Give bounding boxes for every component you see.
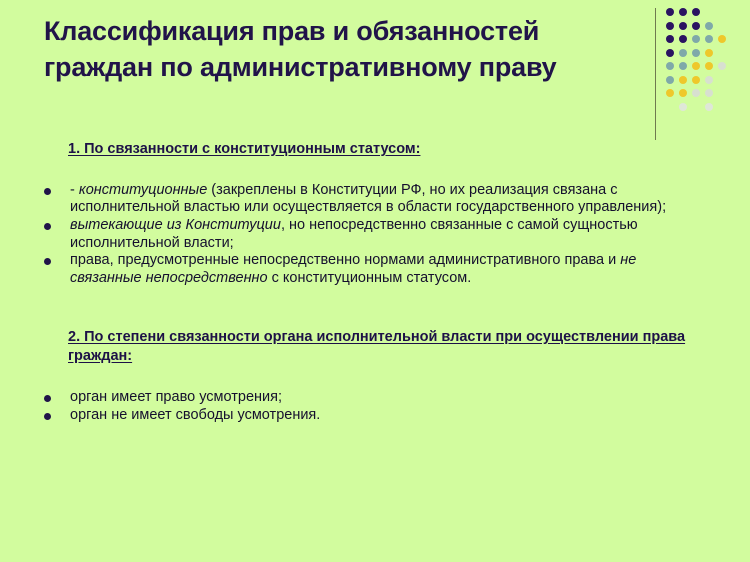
decorative-dot bbox=[679, 22, 687, 30]
spacer bbox=[0, 160, 750, 182]
title-block: Классификация прав и обязанностей гражда… bbox=[44, 14, 644, 85]
list-item: орган не имеет свободы усмотрения. bbox=[0, 407, 750, 425]
spacer bbox=[0, 288, 750, 328]
bullet-icon bbox=[44, 188, 51, 195]
decorative-dot bbox=[679, 76, 687, 84]
decorative-dot bbox=[705, 62, 713, 70]
list-item: вытекающие из Конституции, но непосредст… bbox=[0, 217, 750, 252]
list-item-text: вытекающие из Конституции, но непосредст… bbox=[70, 217, 638, 251]
decorative-dot bbox=[692, 49, 700, 57]
decorative-dot bbox=[692, 22, 700, 30]
decorative-dot bbox=[692, 62, 700, 70]
plain-text: - bbox=[70, 182, 79, 198]
plain-text: орган имеет право усмотрения; bbox=[70, 389, 282, 405]
slide-body: 1. По связанности с конституционным стат… bbox=[0, 140, 750, 424]
bullet-icon bbox=[44, 258, 51, 265]
decorative-dot bbox=[692, 76, 700, 84]
bullet-icon bbox=[44, 413, 51, 420]
decorative-dot bbox=[705, 89, 713, 97]
list-item-text: права, предусмотренные непосредственно н… bbox=[70, 252, 636, 286]
list-item-text: - конституционные (закреплены в Конститу… bbox=[70, 182, 666, 216]
list-item: права, предусмотренные непосредственно н… bbox=[0, 252, 750, 287]
decorative-dot bbox=[666, 62, 674, 70]
decorative-dot bbox=[679, 62, 687, 70]
emphasis-text: вытекающие из Конституции bbox=[70, 217, 281, 233]
section-2: 2. По степени связанности органа исполни… bbox=[0, 328, 750, 425]
bullet-list-1: - конституционные (закреплены в Конститу… bbox=[0, 182, 750, 288]
decorative-dot bbox=[666, 35, 674, 43]
section-heading-2: 2. По степени связанности органа исполни… bbox=[0, 328, 750, 367]
list-item: - конституционные (закреплены в Конститу… bbox=[0, 182, 750, 217]
emphasis-text: конституционные bbox=[79, 182, 207, 198]
bullet-icon bbox=[44, 395, 51, 402]
section-1: 1. По связанности с конституционным стат… bbox=[0, 140, 750, 288]
section-heading-1: 1. По связанности с конституционным стат… bbox=[0, 140, 750, 160]
decorative-dot bbox=[692, 89, 700, 97]
decorative-dot bbox=[705, 35, 713, 43]
decorative-dot bbox=[705, 49, 713, 57]
decorative-dot bbox=[666, 8, 674, 16]
decorative-dot bbox=[666, 76, 674, 84]
decorative-dot bbox=[705, 76, 713, 84]
slide-canvas: Классификация прав и обязанностей гражда… bbox=[0, 0, 750, 562]
bullet-list-2: орган имеет право усмотрения;орган не им… bbox=[0, 389, 750, 424]
decorative-dot bbox=[718, 62, 726, 70]
decorative-dot bbox=[718, 35, 726, 43]
list-item: орган имеет право усмотрения; bbox=[0, 389, 750, 407]
spacer bbox=[0, 367, 750, 389]
decorative-dot bbox=[666, 89, 674, 97]
decorative-dot bbox=[679, 49, 687, 57]
bullet-icon bbox=[44, 223, 51, 230]
decorative-dot bbox=[705, 103, 713, 111]
plain-text: орган не имеет свободы усмотрения. bbox=[70, 407, 320, 423]
decorative-dot bbox=[666, 22, 674, 30]
page-title: Классификация прав и обязанностей гражда… bbox=[44, 14, 644, 85]
plain-text: с конституционным статусом. bbox=[268, 270, 472, 286]
decorative-dot bbox=[692, 35, 700, 43]
decorative-dot bbox=[679, 89, 687, 97]
list-item-text: орган имеет право усмотрения; bbox=[70, 389, 282, 405]
decorative-dot-grid bbox=[666, 8, 750, 128]
decorative-dot bbox=[692, 8, 700, 16]
decorative-dot bbox=[679, 35, 687, 43]
list-item-text: орган не имеет свободы усмотрения. bbox=[70, 407, 320, 423]
decorative-dot bbox=[679, 103, 687, 111]
decorative-dot bbox=[666, 49, 674, 57]
decorative-divider bbox=[655, 8, 656, 140]
decorative-dot bbox=[679, 8, 687, 16]
plain-text: права, предусмотренные непосредственно н… bbox=[70, 252, 620, 268]
decorative-dot bbox=[705, 22, 713, 30]
